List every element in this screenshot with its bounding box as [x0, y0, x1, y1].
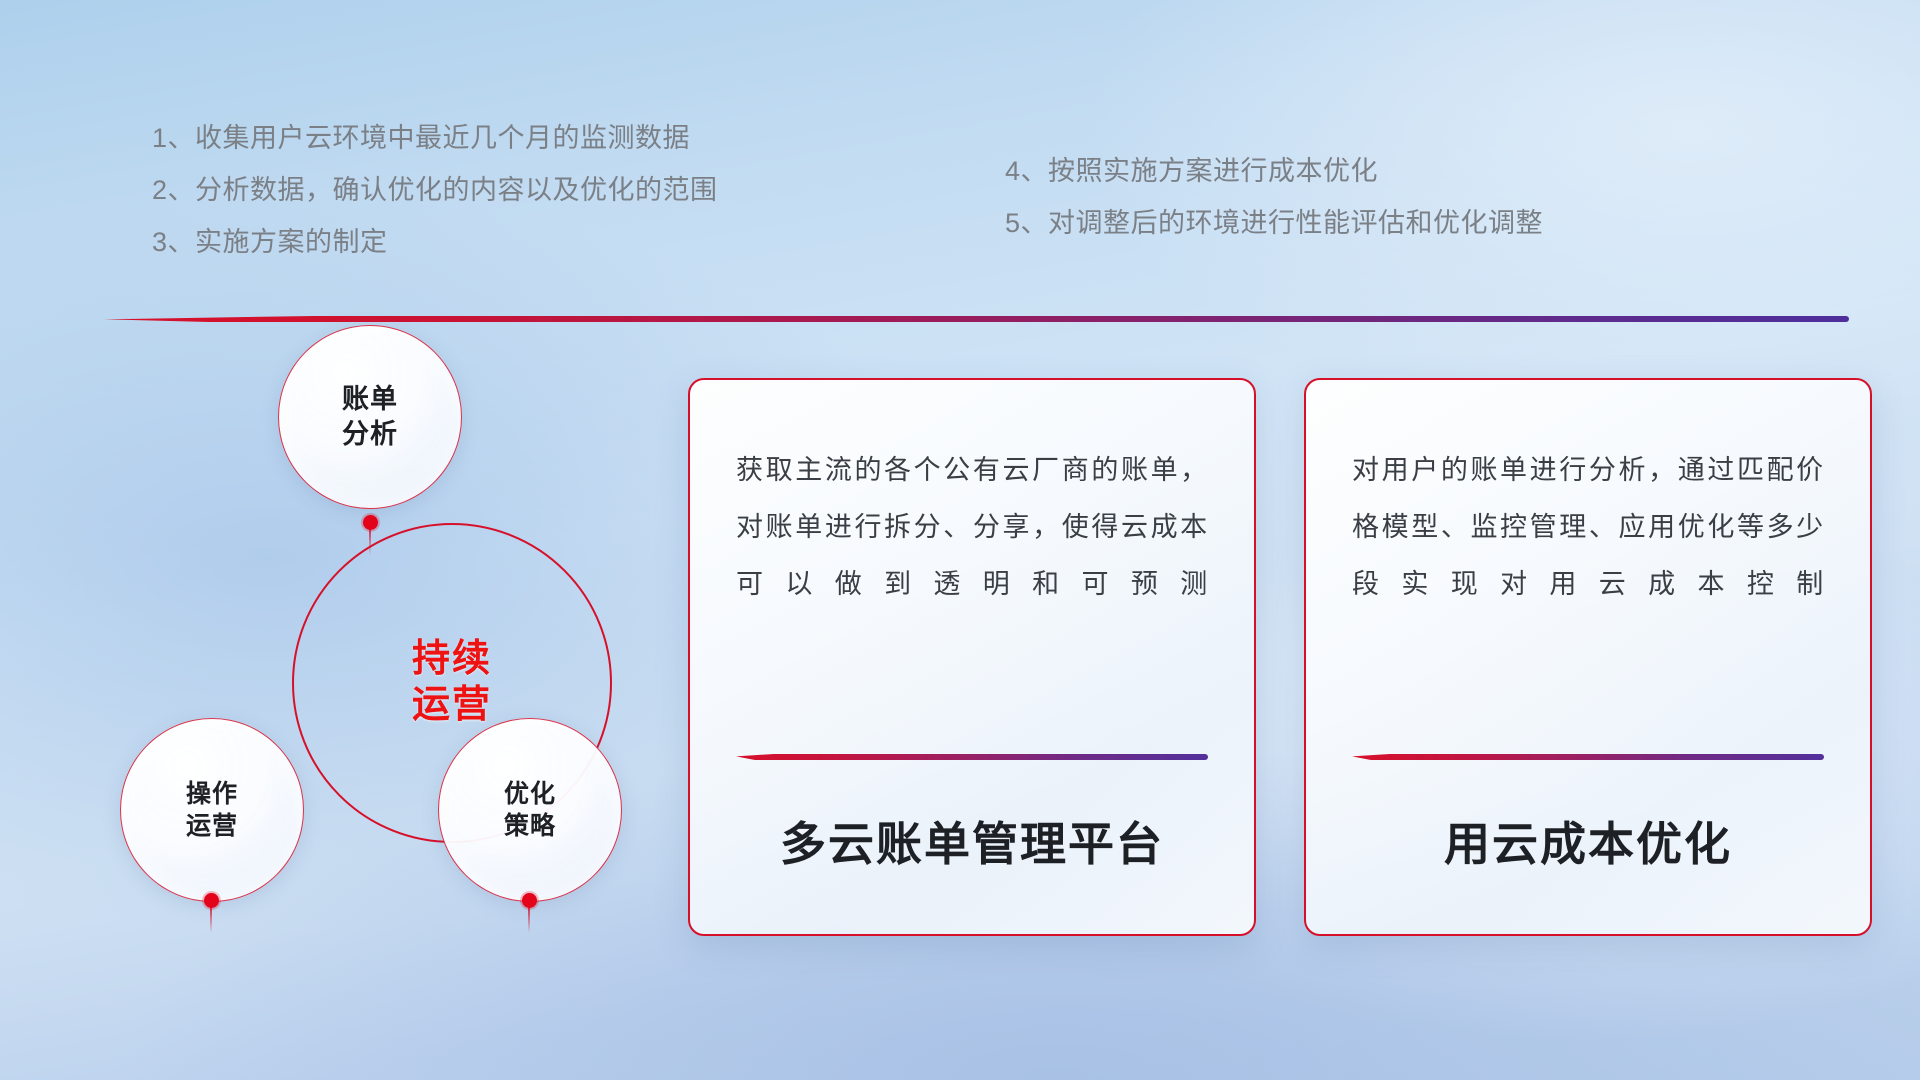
node-label-line-1: 操作 [186, 778, 238, 810]
section-divider [104, 316, 1849, 322]
card-title: 用云成本优化 [1352, 760, 1824, 934]
steps-list-right: 4、按照实施方案进行成本优化 5、对调整后的环境进行性能评估和优化调整 [1005, 158, 1543, 262]
diagram-node-optimization-strategy[interactable]: 优化 策略 [438, 718, 622, 902]
card-divider [1352, 754, 1824, 760]
card-description: 对用户的账单进行分析，通过匹配价格模型、监控管理、应用优化等多少段实现对用云成本… [1352, 442, 1824, 614]
step-item-5: 5、对调整后的环境进行性能评估和优化调整 [1005, 210, 1543, 237]
node-label-line-2: 策略 [504, 810, 556, 842]
node-connector-left [210, 907, 212, 933]
continuous-operation-diagram: 持续 运营 账单 分析 操作 运营 优化 策略 [100, 340, 660, 960]
diagram-node-bill-analysis[interactable]: 账单 分析 [278, 325, 462, 509]
node-label-line-2: 运营 [186, 810, 238, 842]
card-title: 多云账单管理平台 [736, 760, 1208, 934]
slide-canvas: 1、收集用户云环境中最近几个月的监测数据 2、分析数据，确认优化的内容以及优化的… [0, 0, 1920, 1080]
node-label-line-1: 账单 [342, 382, 398, 417]
card-description: 获取主流的各个公有云厂商的账单，对账单进行拆分、分享，使得云成本可以做到透明和可… [736, 442, 1208, 614]
node-label-line-1: 优化 [504, 778, 556, 810]
card-divider [736, 754, 1208, 760]
node-label-line-2: 分析 [342, 417, 398, 452]
node-dot-top [363, 515, 378, 530]
center-label-line-1: 持续 [412, 636, 492, 682]
step-item-4: 4、按照实施方案进行成本优化 [1005, 158, 1543, 185]
node-dot-right [522, 893, 537, 908]
node-connector-top [369, 529, 371, 555]
step-item-3: 3、实施方案的制定 [152, 229, 718, 256]
feature-card-multicloud-billing[interactable]: 获取主流的各个公有云厂商的账单，对账单进行拆分、分享，使得云成本可以做到透明和可… [688, 378, 1256, 936]
center-label-line-2: 运营 [412, 682, 492, 728]
feature-card-cost-optimization[interactable]: 对用户的账单进行分析，通过匹配价格模型、监控管理、应用优化等多少段实现对用云成本… [1304, 378, 1872, 936]
steps-list-left: 1、收集用户云环境中最近几个月的监测数据 2、分析数据，确认优化的内容以及优化的… [152, 125, 718, 281]
step-item-1: 1、收集用户云环境中最近几个月的监测数据 [152, 125, 718, 152]
diagram-node-operations[interactable]: 操作 运营 [120, 718, 304, 902]
node-connector-right [528, 907, 530, 933]
step-item-2: 2、分析数据，确认优化的内容以及优化的范围 [152, 177, 718, 204]
node-dot-left [204, 893, 219, 908]
